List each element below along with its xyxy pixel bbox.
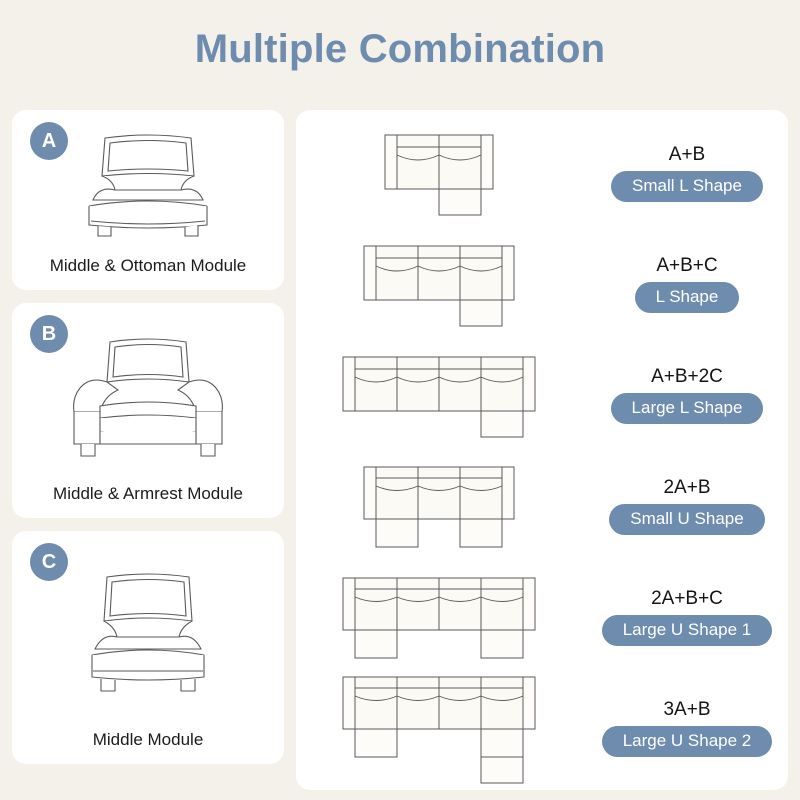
combination-info: 2A+B Small U Shape — [590, 478, 784, 536]
combination-code: A+B+2C — [651, 367, 723, 386]
combination-row[interactable]: 3A+B Large U Shape 2 — [296, 673, 788, 784]
module-card-c[interactable]: C Middle Module — [12, 531, 284, 764]
combination-diagram-l — [300, 229, 590, 340]
combination-code: A+B+C — [656, 256, 717, 275]
combination-info: A+B Small L Shape — [590, 145, 784, 203]
combination-info: A+B+C L Shape — [590, 256, 784, 314]
module-badge-c: C — [30, 543, 68, 581]
combination-info: 2A+B+C Large U Shape 1 — [590, 589, 784, 647]
module-card-a[interactable]: A Middle & Ottoman Module — [12, 110, 284, 290]
module-list: A Middle & Ottoman Module — [12, 110, 284, 790]
page-title: Multiple Combination — [0, 0, 800, 71]
combination-list: A+B Small L Shape — [296, 110, 788, 790]
module-badge-b: B — [30, 315, 68, 353]
combination-row[interactable]: 2A+B+C Large U Shape 1 — [296, 562, 788, 673]
combination-code: 3A+B — [663, 700, 710, 719]
module-badge-a: A — [30, 122, 68, 160]
combination-row[interactable]: A+B+2C Large L Shape — [296, 340, 788, 451]
combination-shape-badge[interactable]: Large U Shape 2 — [602, 726, 773, 758]
combination-row[interactable]: A+B Small L Shape — [296, 118, 788, 229]
combination-shape-badge[interactable]: L Shape — [635, 282, 740, 314]
combination-diagram-small-l — [300, 118, 590, 229]
combination-infographic: Multiple Combination A — [0, 0, 800, 800]
combination-info: A+B+2C Large L Shape — [590, 367, 784, 425]
combination-shape-badge[interactable]: Large L Shape — [611, 393, 764, 425]
combination-diagram-large-u-1 — [300, 562, 590, 673]
combination-diagram-large-u-2 — [300, 673, 590, 784]
combination-row[interactable]: A+B+C L Shape — [296, 229, 788, 340]
combination-info: 3A+B Large U Shape 2 — [590, 700, 784, 758]
content-area: A Middle & Ottoman Module — [0, 110, 800, 790]
combination-diagram-small-u — [300, 451, 590, 562]
combination-shape-badge[interactable]: Small U Shape — [609, 504, 764, 536]
combination-code: A+B — [669, 145, 705, 164]
module-label-a: Middle & Ottoman Module — [50, 256, 247, 282]
module-label-b: Middle & Armrest Module — [53, 484, 243, 510]
combination-diagram-large-l — [300, 340, 590, 451]
combination-code: 2A+B+C — [651, 589, 723, 608]
module-card-b[interactable]: B Middle — [12, 303, 284, 518]
combination-code: 2A+B — [663, 478, 710, 497]
combination-shape-badge[interactable]: Large U Shape 1 — [602, 615, 773, 647]
combination-shape-badge[interactable]: Small L Shape — [611, 171, 763, 203]
combination-row[interactable]: 2A+B Small U Shape — [296, 451, 788, 562]
module-label-c: Middle Module — [93, 730, 204, 756]
